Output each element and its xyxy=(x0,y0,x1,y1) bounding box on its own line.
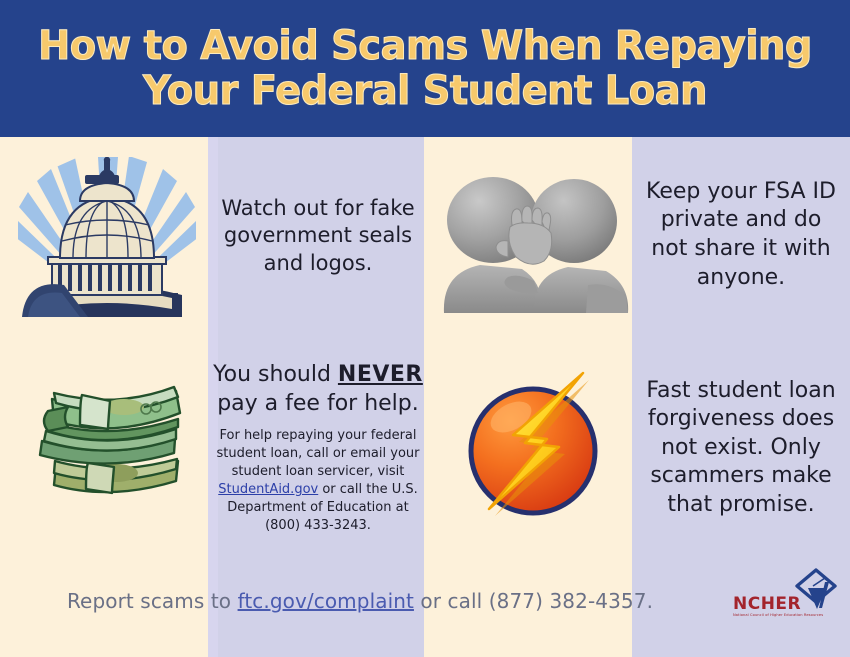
title-line-2: Your Federal Student Loan xyxy=(38,69,812,114)
footer-suffix: or call (877) 382-4357. xyxy=(414,589,653,613)
panel-forgiveness-text: Fast student loan forgiveness does not e… xyxy=(632,353,850,543)
fsa-id-message: Keep your FSA ID private and do not shar… xyxy=(632,178,850,292)
fake-seals-message: Watch out for fake government seals and … xyxy=(212,195,424,277)
title-line-1: How to Avoid Scams When Repaying xyxy=(38,24,812,69)
panel-never-pay-text: You should NEVER pay a fee for help. For… xyxy=(212,353,424,543)
never-pay-prefix: You should xyxy=(213,362,338,387)
panel-fsa-id-text: Keep your FSA ID private and do not shar… xyxy=(632,155,850,315)
never-pay-suffix: pay a fee for help. xyxy=(217,391,419,416)
never-emphasis: NEVER xyxy=(338,362,423,387)
footer-report-text: Report scams to ftc.gov/complaint or cal… xyxy=(0,589,720,613)
whispering-figures-icon xyxy=(438,165,630,313)
studentaid-link[interactable]: StudentAid.gov xyxy=(218,482,318,497)
panel-fake-seals-text: Watch out for fake government seals and … xyxy=(212,163,424,309)
fine-print-prefix: For help repaying your federal student l… xyxy=(217,428,420,479)
cash-stack-icon xyxy=(18,377,198,509)
never-pay-fine-print: For help repaying your federal student l… xyxy=(212,427,424,535)
content-area: Watch out for fake government seals and … xyxy=(0,137,850,592)
footer-prefix: Report scams to xyxy=(67,589,238,613)
never-pay-message: You should NEVER pay a fee for help. xyxy=(212,361,424,418)
page-title: How to Avoid Scams When Repaying Your Fe… xyxy=(29,24,822,114)
us-capitol-dome-icon xyxy=(18,157,196,317)
footer: Report scams to ftc.gov/complaint or cal… xyxy=(0,575,850,627)
ncher-graduation-mark-icon xyxy=(795,568,837,612)
ncher-tagline: National Council of Higher Education Res… xyxy=(733,613,825,617)
forgiveness-message: Fast student loan forgiveness does not e… xyxy=(632,377,850,520)
header-banner: How to Avoid Scams When Repaying Your Fe… xyxy=(0,0,850,137)
ftc-complaint-link[interactable]: ftc.gov/complaint xyxy=(238,589,414,613)
ncher-logo[interactable]: NCHER National Council of Higher Educati… xyxy=(733,570,835,626)
infographic-page: How to Avoid Scams When Repaying Your Fe… xyxy=(0,0,850,657)
ncher-wordmark: NCHER xyxy=(733,594,801,614)
lightning-bolt-icon xyxy=(455,369,613,527)
